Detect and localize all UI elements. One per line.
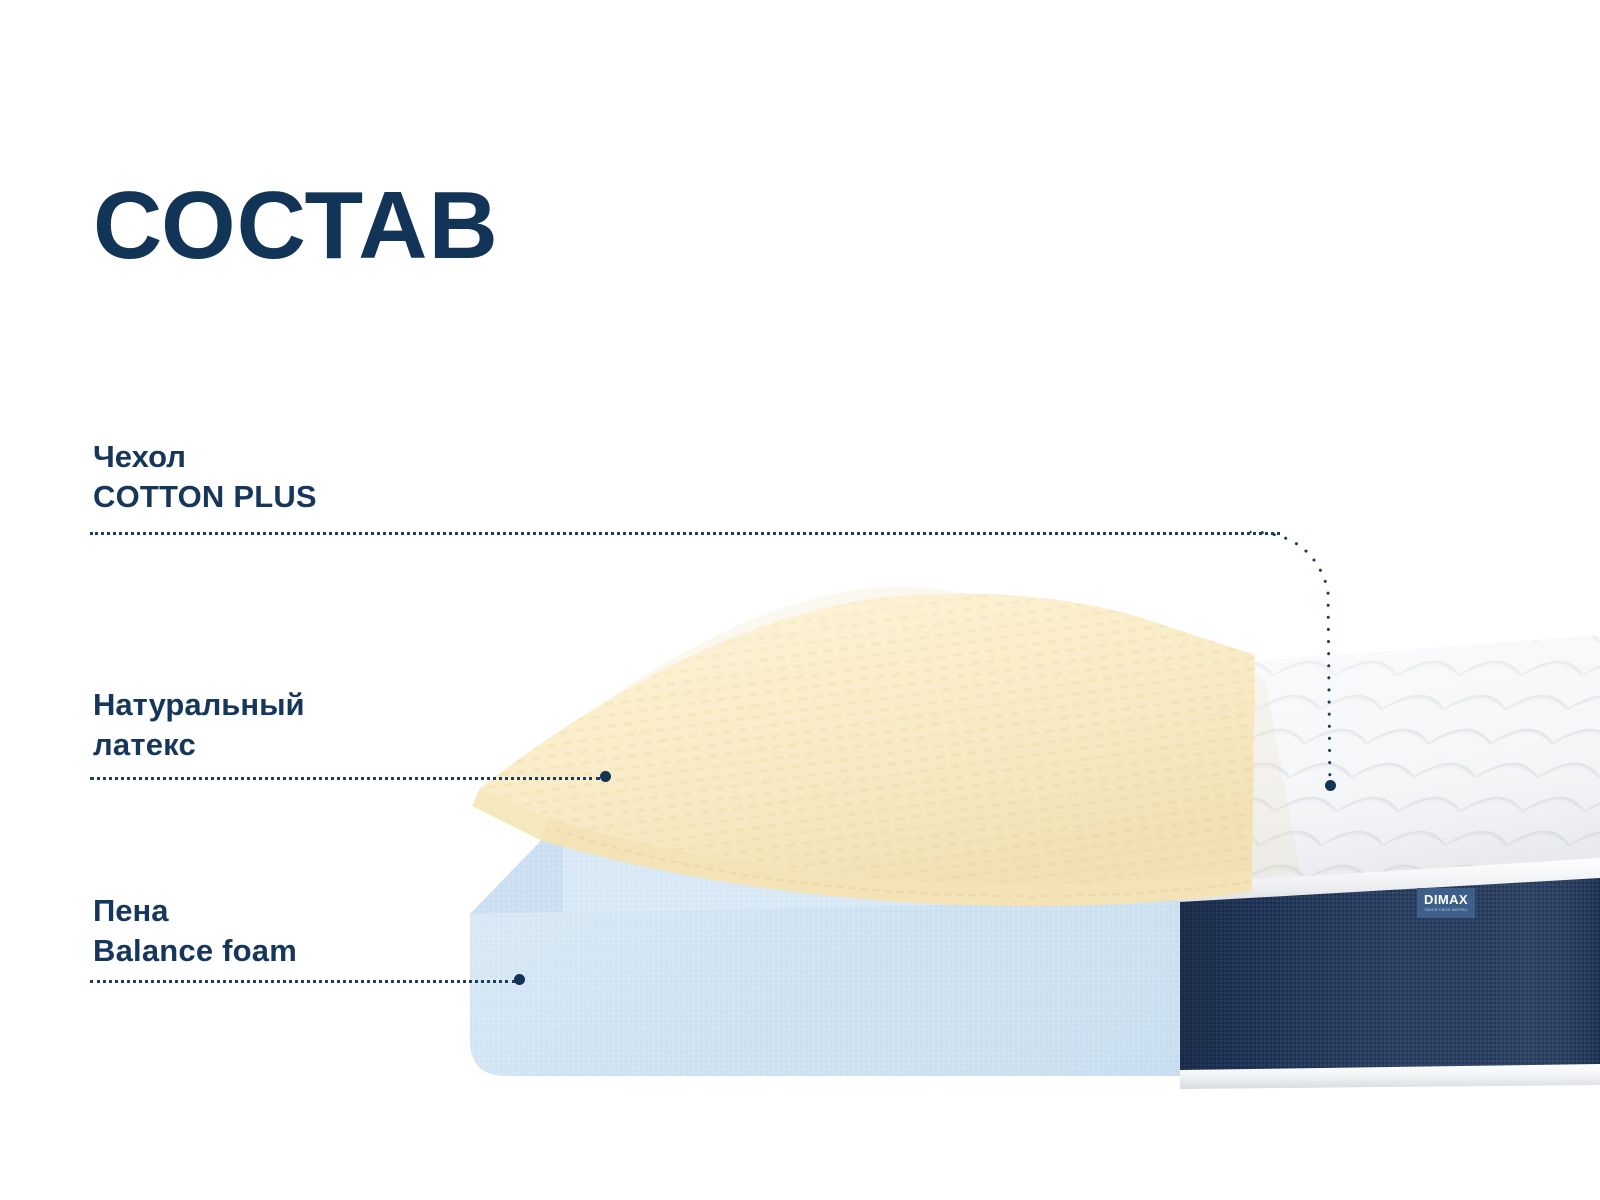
callout-latex-line2: латекс bbox=[93, 725, 305, 765]
leader-line-foam bbox=[90, 980, 515, 983]
mattress-illustration bbox=[0, 540, 1600, 1140]
callout-foam-line1: Пена bbox=[93, 891, 297, 931]
page-title: СОСТАВ bbox=[93, 178, 499, 274]
side-panel-layer bbox=[1180, 878, 1600, 1089]
side-panel-fabric bbox=[1180, 878, 1600, 1076]
callout-cover-line1: Чехол bbox=[93, 437, 317, 477]
dimax-badge: DIMAX ТАКОЙ СВОЙ МАТРАС bbox=[1417, 888, 1475, 918]
callout-latex: Натуральный латекс bbox=[93, 685, 305, 764]
dimax-badge-tagline: ТАКОЙ СВОЙ МАТРАС bbox=[1424, 909, 1468, 912]
leader-endpoint-cover bbox=[1325, 780, 1336, 791]
leader-line-cover bbox=[90, 532, 1280, 535]
leader-line-latex bbox=[90, 777, 600, 780]
callout-foam: Пена Balance foam bbox=[93, 891, 297, 970]
callout-cover-line2: COTTON PLUS bbox=[93, 477, 317, 517]
slide-canvas: СОСТАВ bbox=[0, 0, 1600, 1200]
callout-foam-line2: Balance foam bbox=[93, 931, 297, 971]
leader-endpoint-foam bbox=[514, 974, 525, 985]
callout-latex-line1: Натуральный bbox=[93, 685, 305, 725]
leader-endpoint-latex bbox=[600, 771, 611, 782]
dimax-badge-brand: DIMAX bbox=[1424, 893, 1468, 906]
callout-cover: Чехол COTTON PLUS bbox=[93, 437, 317, 516]
